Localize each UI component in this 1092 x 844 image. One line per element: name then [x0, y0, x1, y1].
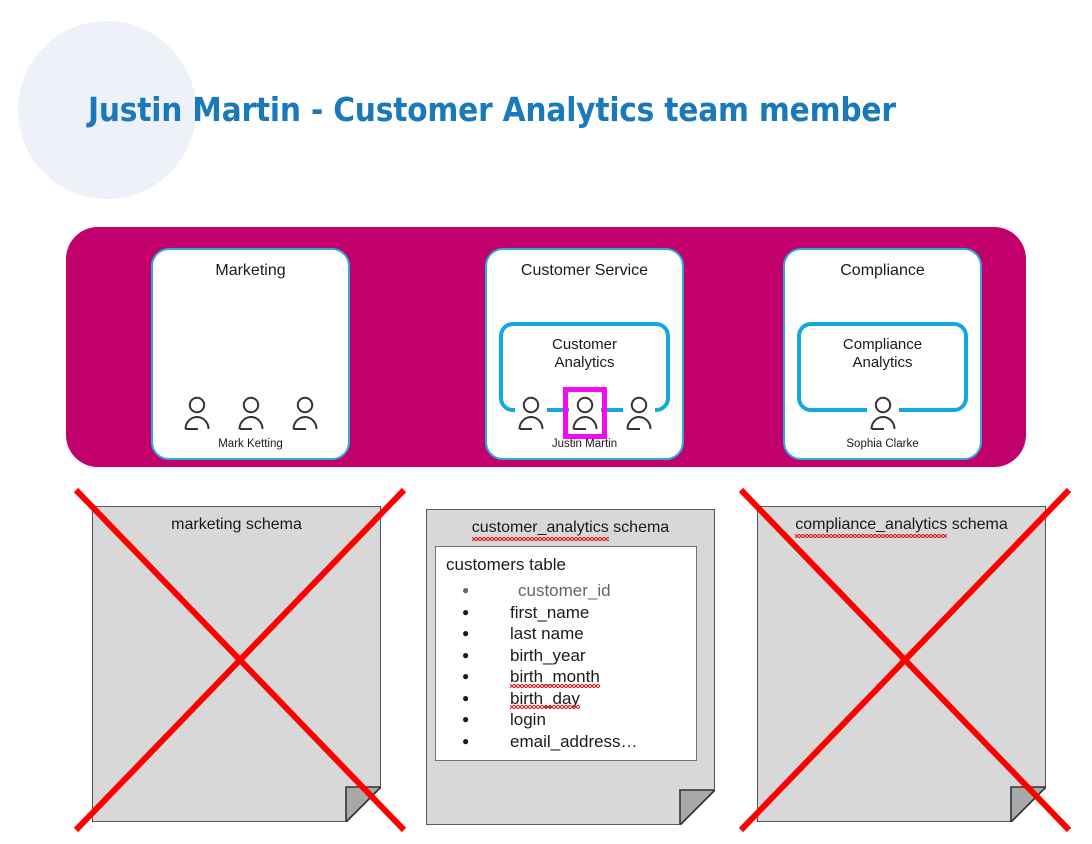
- dept-card-compliance[interactable]: Compliance Compliance Analytics Sophia C…: [783, 248, 982, 460]
- person-icon: [289, 396, 321, 430]
- schema-title-misspelled-part: compliance_analytics: [795, 516, 947, 534]
- analytics-box-label: Customer Analytics: [503, 336, 666, 372]
- schema-document-customer-analytics[interactable]: customer_analytics schema customers tabl…: [426, 509, 715, 825]
- dept-card-customer-service[interactable]: Customer Service Customer Analytics: [485, 248, 684, 460]
- schema-title: marketing schema: [92, 516, 381, 534]
- analytics-box-label: Compliance Analytics: [801, 336, 964, 372]
- column-list-item: login: [452, 709, 638, 731]
- analytics-label-line1: Customer: [552, 336, 617, 353]
- person-slot[interactable]: [515, 396, 547, 430]
- member-name: Mark Ketting: [153, 438, 348, 450]
- slide-canvas: Justin Martin - Customer Analytics team …: [0, 0, 1092, 844]
- analytics-label-line1: Compliance: [843, 336, 922, 353]
- person-slot[interactable]: [235, 396, 267, 430]
- dept-card-title: Customer Service: [487, 262, 682, 280]
- dept-card-marketing[interactable]: Marketing: [151, 248, 350, 460]
- column-list-item: email_address…: [452, 731, 638, 753]
- column-name: email_address…: [510, 732, 638, 751]
- person-slot-highlighted-justin-martin[interactable]: [569, 396, 601, 430]
- member-name: Sophia Clarke: [785, 438, 980, 450]
- people-row: [785, 396, 980, 430]
- person-icon: [235, 396, 267, 430]
- schema-document-compliance-analytics[interactable]: compliance_analytics schema: [757, 506, 1046, 822]
- person-icon: [515, 396, 547, 430]
- person-slot[interactable]: [289, 396, 321, 430]
- person-icon: [623, 396, 655, 430]
- column-name: last name: [510, 624, 584, 643]
- dept-card-title: Marketing: [153, 262, 348, 280]
- document-shape: [92, 506, 381, 822]
- column-list-item: birth_year: [452, 645, 638, 667]
- person-icon: [867, 396, 899, 430]
- column-list: customer_id first_name last name birth_y…: [452, 580, 638, 752]
- person-slot[interactable]: [623, 396, 655, 430]
- customers-table-panel: customers table customer_id first_name l…: [435, 546, 697, 761]
- analytics-label-line2: Analytics: [554, 354, 614, 371]
- schema-title-misspelled-part: customer_analytics: [472, 519, 609, 537]
- column-list-item: first_name: [452, 602, 638, 624]
- column-name: customer_id: [518, 581, 611, 600]
- column-name: birth_year: [510, 646, 586, 665]
- column-name: first_name: [510, 603, 589, 622]
- column-list-item: customer_id: [452, 580, 638, 602]
- column-name: birth_day: [510, 688, 580, 710]
- column-list-item: last name: [452, 623, 638, 645]
- page-title: Justin Martin - Customer Analytics team …: [88, 90, 896, 129]
- column-list-item: birth_month: [452, 666, 638, 688]
- table-name: customers table: [446, 555, 566, 575]
- dept-card-title: Compliance: [785, 262, 980, 280]
- person-icon: [181, 396, 213, 430]
- member-name: Justin Martin: [487, 438, 682, 450]
- schema-title: compliance_analytics schema: [757, 516, 1046, 534]
- analytics-label-line2: Analytics: [852, 354, 912, 371]
- person-slot[interactable]: [867, 396, 899, 430]
- schema-document-marketing[interactable]: marketing schema: [92, 506, 381, 822]
- column-name: login: [510, 710, 546, 729]
- document-shape: [757, 506, 1046, 822]
- schema-title: customer_analytics schema: [426, 519, 715, 537]
- person-icon: [569, 396, 601, 430]
- schema-title-plain-part: schema: [947, 516, 1007, 533]
- schema-title-plain-part: schema: [609, 519, 669, 536]
- column-name: birth_month: [510, 666, 600, 688]
- people-row: [153, 396, 348, 430]
- people-row: [487, 396, 682, 430]
- person-slot[interactable]: [181, 396, 213, 430]
- schema-title-text: marketing schema: [171, 516, 302, 533]
- column-list-item: birth_day: [452, 688, 638, 710]
